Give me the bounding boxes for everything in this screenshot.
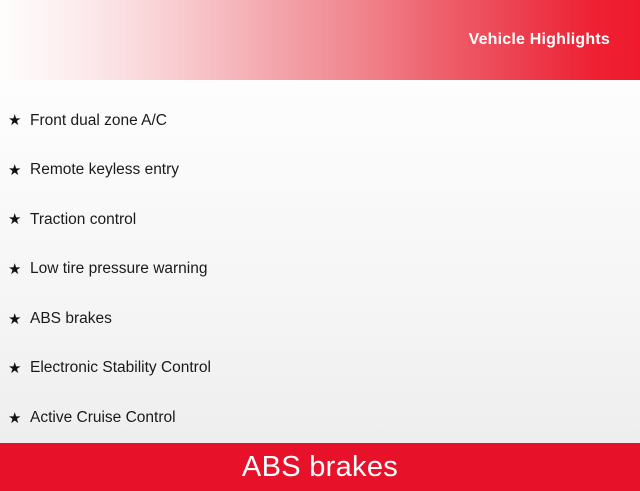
list-item: ★ Remote keyless entry bbox=[0, 146, 640, 196]
feature-label: Low tire pressure warning bbox=[30, 260, 207, 279]
feature-list: ★ Front dual zone A/C ★ Remote keyless e… bbox=[0, 80, 640, 443]
feature-label: Remote keyless entry bbox=[30, 161, 179, 180]
list-item: ★ Active Cruise Control bbox=[0, 394, 640, 444]
star-bullet-icon: ★ bbox=[8, 113, 30, 128]
list-item: ★ Electronic Stability Control bbox=[0, 344, 640, 394]
feature-label: Electronic Stability Control bbox=[30, 359, 211, 378]
star-bullet-icon: ★ bbox=[8, 361, 30, 376]
feature-label: Front dual zone A/C bbox=[30, 112, 167, 131]
star-bullet-icon: ★ bbox=[8, 212, 30, 227]
star-bullet-icon: ★ bbox=[8, 411, 30, 426]
feature-label: Active Cruise Control bbox=[30, 409, 176, 428]
vehicle-highlights-slide: Vehicle Highlights ★ Front dual zone A/C… bbox=[0, 0, 640, 480]
list-item: ★ Front dual zone A/C bbox=[0, 96, 640, 146]
star-bullet-icon: ★ bbox=[8, 262, 30, 277]
header-title: Vehicle Highlights bbox=[469, 31, 610, 49]
star-bullet-icon: ★ bbox=[8, 312, 30, 327]
list-item: ★ Low tire pressure warning bbox=[0, 245, 640, 295]
star-bullet-icon: ★ bbox=[8, 163, 30, 178]
list-item: ★ ABS brakes bbox=[0, 294, 640, 344]
header-banner: Vehicle Highlights bbox=[0, 0, 640, 80]
feature-label: ABS brakes bbox=[30, 310, 112, 329]
footer-banner: ABS brakes bbox=[0, 443, 640, 491]
list-item: ★ Traction control bbox=[0, 195, 640, 245]
footer-title: ABS brakes bbox=[242, 451, 398, 484]
feature-label: Traction control bbox=[30, 211, 136, 230]
